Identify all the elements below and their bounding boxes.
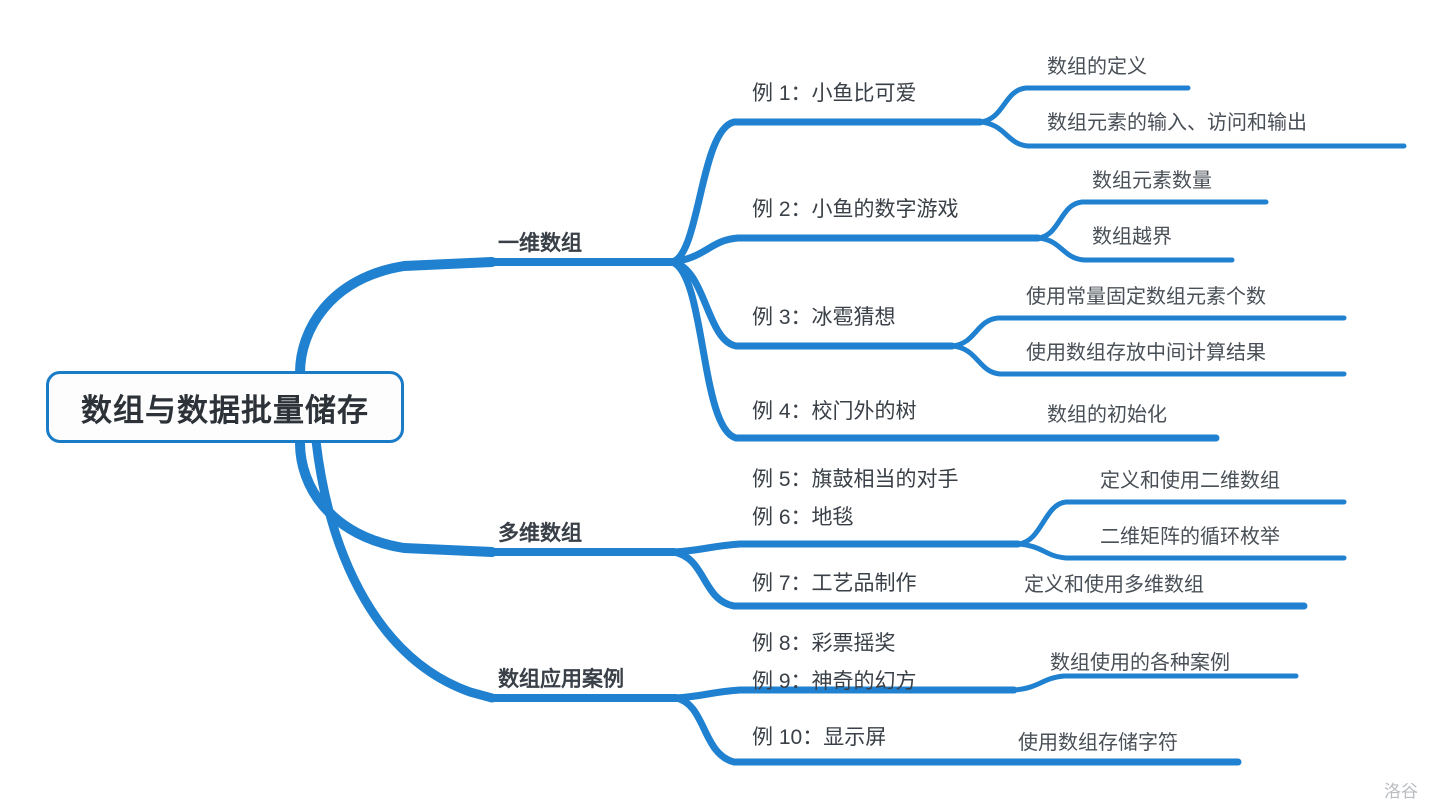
example-label-1[interactable]: 例 1：小鱼比可爱 [752, 82, 917, 105]
leaf-label-array-out-of-bounds[interactable]: 数组越界 [1092, 226, 1172, 248]
branch-label-array-application-cases[interactable]: 数组应用案例 [498, 668, 624, 691]
root-node[interactable]: 数组与数据批量储存 [46, 371, 404, 443]
link-b0-e2 [672, 238, 1038, 262]
leaf-label-various-array-use-cases[interactable]: 数组使用的各种案例 [1050, 652, 1230, 674]
link-root-to-branch-1 [300, 443, 492, 552]
mindmap-canvas: 数组与数据批量储存 一维数组 多维数组 数组应用案例 例 1：小鱼比可爱 例 2… [0, 0, 1440, 812]
leaf-label-array-element-count[interactable]: 数组元素数量 [1092, 170, 1212, 192]
leaf-label-store-characters[interactable]: 使用数组存储字符 [1018, 732, 1178, 754]
link-root-to-branch-2 [316, 441, 492, 698]
link-root-to-branch-0 [300, 262, 492, 373]
leaf-label-define-use-multi-array[interactable]: 定义和使用多维数组 [1024, 574, 1204, 596]
example-label-6[interactable]: 例 6：地毯 [752, 506, 854, 529]
link-b1-e56 [674, 544, 1018, 552]
example-label-3[interactable]: 例 3：冰雹猜想 [752, 306, 896, 329]
example-label-7[interactable]: 例 7：工艺品制作 [752, 572, 917, 595]
leaf-label-store-intermediate-results[interactable]: 使用数组存放中间计算结果 [1026, 342, 1266, 364]
link-e89-leaf1 [1014, 676, 1296, 690]
leaf-label-2d-matrix-loop-enumeration[interactable]: 二维矩阵的循环枚举 [1100, 526, 1280, 548]
example-label-4[interactable]: 例 4：校门外的树 [752, 400, 917, 423]
leaf-label-define-use-2d-array[interactable]: 定义和使用二维数组 [1100, 470, 1280, 492]
example-label-9[interactable]: 例 9：神奇的幻方 [752, 670, 917, 693]
branch-label-one-dimensional-array[interactable]: 一维数组 [498, 232, 582, 255]
leaf-label-constant-fixed-size[interactable]: 使用常量固定数组元素个数 [1026, 286, 1266, 308]
watermark: 洛谷 [1384, 777, 1418, 802]
branch-label-multi-dimensional-array[interactable]: 多维数组 [498, 522, 582, 545]
link-b0-e1 [672, 122, 980, 262]
root-label: 数组与数据批量储存 [81, 385, 369, 430]
leaf-label-array-definition[interactable]: 数组的定义 [1047, 56, 1147, 78]
example-label-2[interactable]: 例 2：小鱼的数字游戏 [752, 198, 959, 221]
example-label-8[interactable]: 例 8：彩票摇奖 [752, 632, 896, 655]
example-label-5[interactable]: 例 5：旗鼓相当的对手 [752, 468, 959, 491]
leaf-label-array-initialization[interactable]: 数组的初始化 [1047, 404, 1167, 426]
link-b0-e3 [672, 262, 952, 346]
leaf-label-array-element-io[interactable]: 数组元素的输入、访问和输出 [1047, 112, 1307, 134]
example-label-10[interactable]: 例 10：显示屏 [752, 726, 886, 749]
